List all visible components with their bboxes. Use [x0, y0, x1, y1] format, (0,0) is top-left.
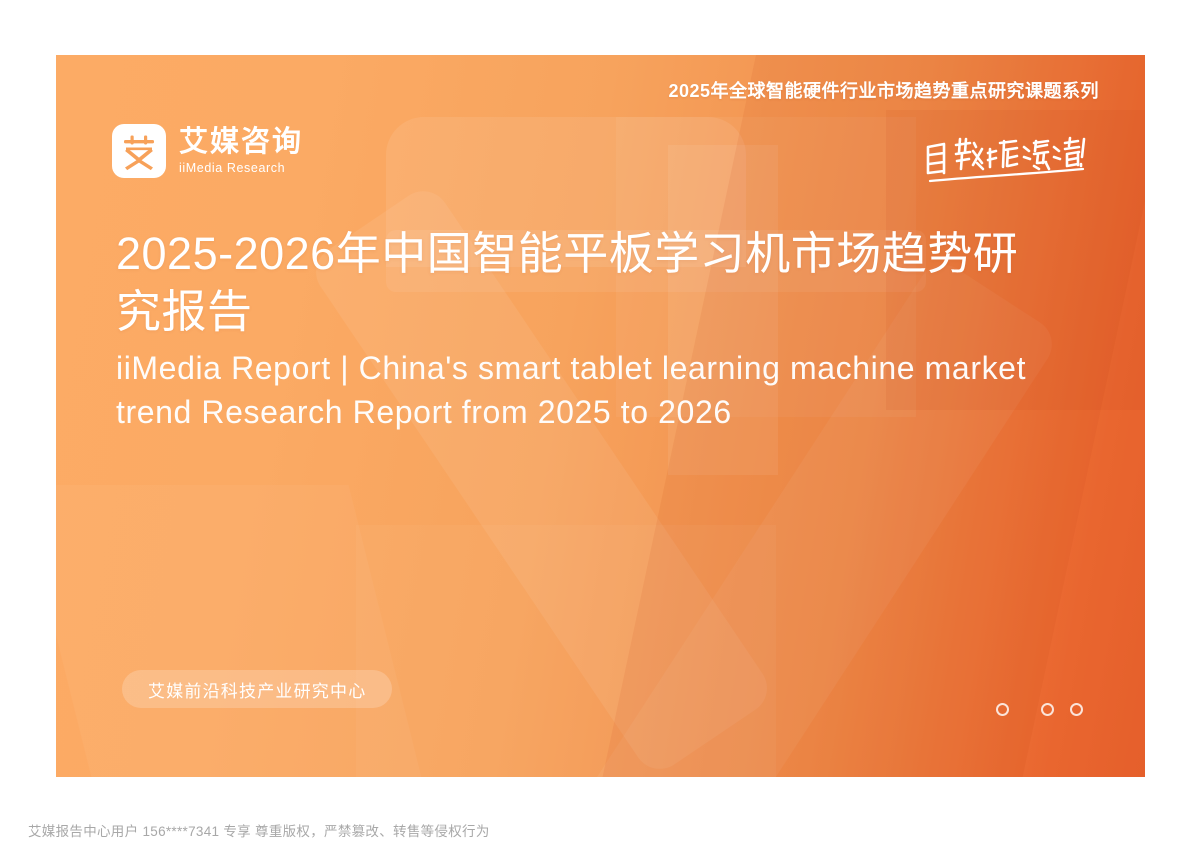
department-badge: 艾媒前沿科技产业研究中心	[122, 670, 392, 708]
title-block: 2025-2026年中国智能平板学习机市场趋势研究报告 iiMedia Repo…	[116, 225, 1056, 435]
footer-copyright-note: 艾媒报告中心用户 156****7341 专享 尊重版权，严禁篡改、转售等侵权行…	[28, 820, 490, 840]
decorative-dots-group	[996, 703, 1083, 716]
handwritten-slogan-icon	[920, 133, 1090, 195]
brand-logo-lockup: 艾媒咨询 iiMedia Research	[112, 124, 303, 178]
report-title-cn: 2025-2026年中国智能平板学习机市场趋势研究报告	[116, 225, 1056, 340]
brand-name-group: 艾媒咨询 iiMedia Research	[179, 128, 303, 175]
cover-panel: 2025年全球智能硬件行业市场趋势重点研究课题系列 艾媒咨询 iiMedia R…	[56, 55, 1145, 777]
watermark-soft-left	[56, 485, 423, 777]
watermark-soft-mid	[356, 525, 776, 777]
circle-outline-icon	[1070, 703, 1083, 716]
iimedia-ai-logo-icon	[112, 124, 166, 178]
report-cover-page: 2025年全球智能硬件行业市场趋势重点研究课题系列 艾媒咨询 iiMedia R…	[0, 0, 1200, 849]
brand-name-en: iiMedia Research	[179, 162, 303, 175]
research-series-line: 2025年全球智能硬件行业市场趋势重点研究课题系列	[668, 77, 1099, 103]
circle-outline-icon	[1041, 703, 1054, 716]
circle-outline-icon	[996, 703, 1009, 716]
report-title-en: iiMedia Report | China's smart tablet le…	[116, 346, 1056, 434]
brand-name-cn: 艾媒咨询	[179, 128, 303, 157]
